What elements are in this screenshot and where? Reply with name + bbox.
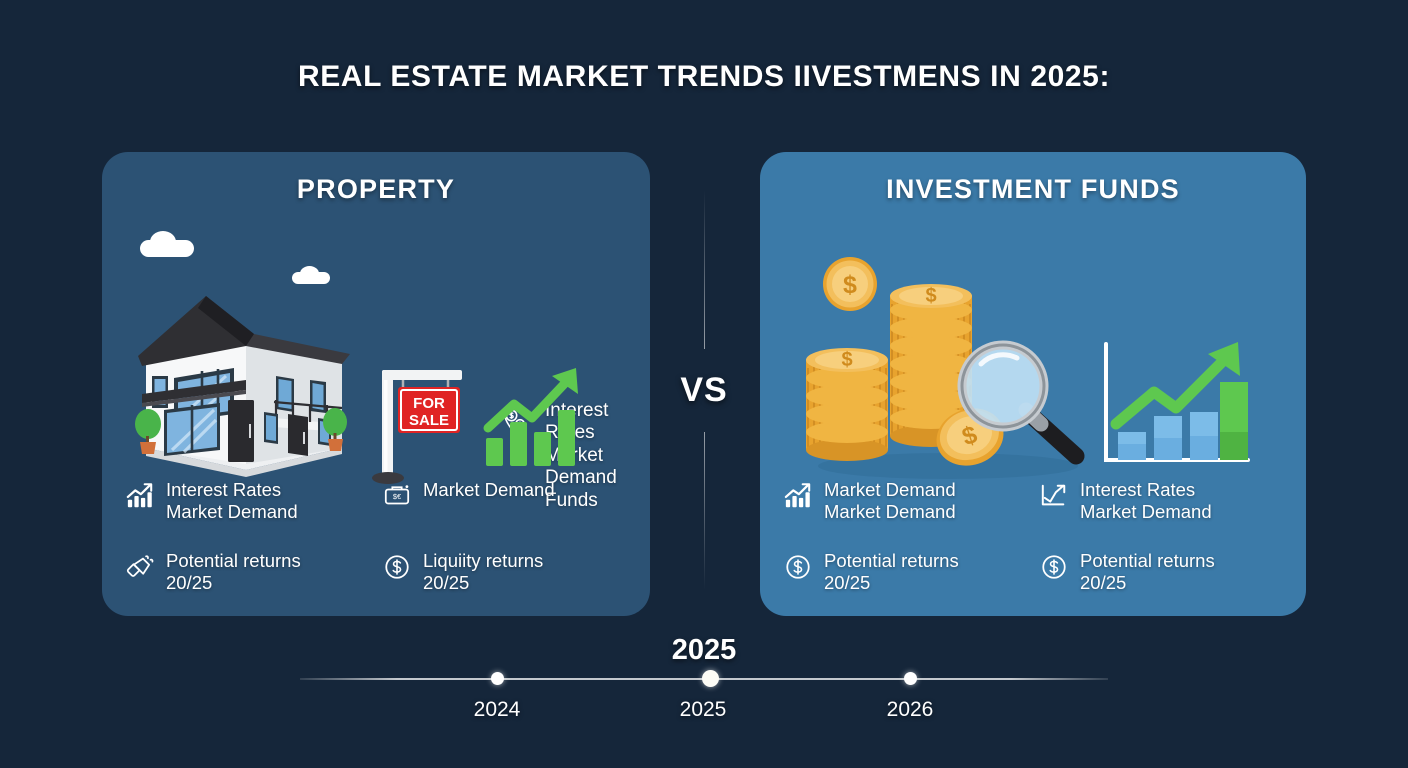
feature-text: Market Demand Market Demand <box>824 479 956 523</box>
for-sale-line2: SALE <box>409 412 449 429</box>
feature-item: Market Demand Market Demand <box>784 479 1026 523</box>
svg-text:$: $ <box>841 349 852 371</box>
timeline-highlight-label: 2025 <box>672 634 737 667</box>
dollar-circle-icon <box>1040 553 1068 581</box>
feature-line: Market Demand <box>824 479 956 501</box>
feature-item: Liquiity returns 20/25 <box>383 550 626 594</box>
timeline-point-2026[interactable] <box>904 672 917 685</box>
vs-label: VS <box>680 349 727 432</box>
divider-line-top <box>704 190 705 349</box>
bar-chart-arrow-icon <box>126 482 154 510</box>
feature-line: Potential returns <box>824 550 959 572</box>
feature-text: Interest Rates Market Demand <box>1080 479 1212 523</box>
feature-text: Interest Rates Market Demand <box>166 479 298 523</box>
timeline-point-2024[interactable] <box>491 672 504 685</box>
feature-line: Market Demand <box>166 501 298 523</box>
property-growth-chart <box>480 362 590 474</box>
feature-line: 20/25 <box>1080 572 1215 594</box>
feature-item: Interest Rates Market Demand <box>126 479 369 523</box>
dollar-circle-icon <box>383 553 411 581</box>
property-feature-grid: Interest Rates Market Demand $€ Market D… <box>126 479 626 594</box>
feature-text: Potential returns 20/25 <box>824 550 959 594</box>
divider-line-bottom <box>704 432 705 591</box>
svg-text:$: $ <box>843 271 857 299</box>
timeline: 2025 2024 2025 2026 <box>0 636 1408 746</box>
bar-chart-arrow-icon <box>784 482 812 510</box>
page-title: REAL ESTATE MARKET TRENDS IIVESTMENS IN … <box>0 60 1408 94</box>
cloud-icon <box>140 240 194 257</box>
dollar-circle-icon <box>784 553 812 581</box>
timeline-label-2025: 2025 <box>680 698 727 722</box>
timeline-label-2024: 2024 <box>474 698 521 722</box>
investment-feature-grid: Market Demand Market Demand Interest Rat… <box>784 479 1282 594</box>
for-sale-sign: FOR SALE <box>370 358 480 486</box>
briefcase-currency-icon: $€ <box>383 482 411 510</box>
vs-divider: VS <box>654 190 754 590</box>
feature-text: Potential returns 20/25 <box>1080 550 1215 594</box>
house-illustration <box>128 272 358 480</box>
feature-line: Interest Rates <box>1080 479 1212 501</box>
feature-line: 20/25 <box>166 572 301 594</box>
line-chart-arrow-icon <box>1040 482 1068 510</box>
svg-text:$: $ <box>925 285 936 307</box>
panel-investment-funds-heading: INVESTMENT FUNDS <box>760 174 1306 205</box>
feature-item: Potential returns 20/25 <box>784 550 1026 594</box>
feature-line: Potential returns <box>166 550 301 572</box>
feature-line: Interest Rates <box>166 479 298 501</box>
investment-funds-growth-chart <box>1092 336 1254 476</box>
feature-text: Potential returns 20/25 <box>166 550 301 594</box>
feature-item: Interest Rates Market Demand <box>1040 479 1282 523</box>
infographic-root: REAL ESTATE MARKET TRENDS IIVESTMENS IN … <box>0 0 1408 768</box>
timeline-label-2026: 2026 <box>887 698 934 722</box>
feature-line: Potential returns <box>1080 550 1215 572</box>
feature-line: 20/25 <box>423 572 543 594</box>
gold-coin-stacks-illustration: $ $ <box>798 252 1090 482</box>
svg-text:$€: $€ <box>393 492 402 501</box>
feature-line: Market Demand <box>1080 501 1212 523</box>
for-sale-line1: FOR <box>413 395 445 412</box>
timeline-point-2025[interactable] <box>702 670 719 687</box>
feature-text: Liquiity returns 20/25 <box>423 550 543 594</box>
panel-property-heading: PROPERTY <box>102 174 650 205</box>
megaphone-icon <box>126 553 154 581</box>
feature-line: Market Demand <box>824 501 956 523</box>
feature-line: Liquiity returns <box>423 550 543 572</box>
feature-line: 20/25 <box>824 572 959 594</box>
feature-item: Potential returns 20/25 <box>126 550 369 594</box>
feature-item: Potential returns 20/25 <box>1040 550 1282 594</box>
